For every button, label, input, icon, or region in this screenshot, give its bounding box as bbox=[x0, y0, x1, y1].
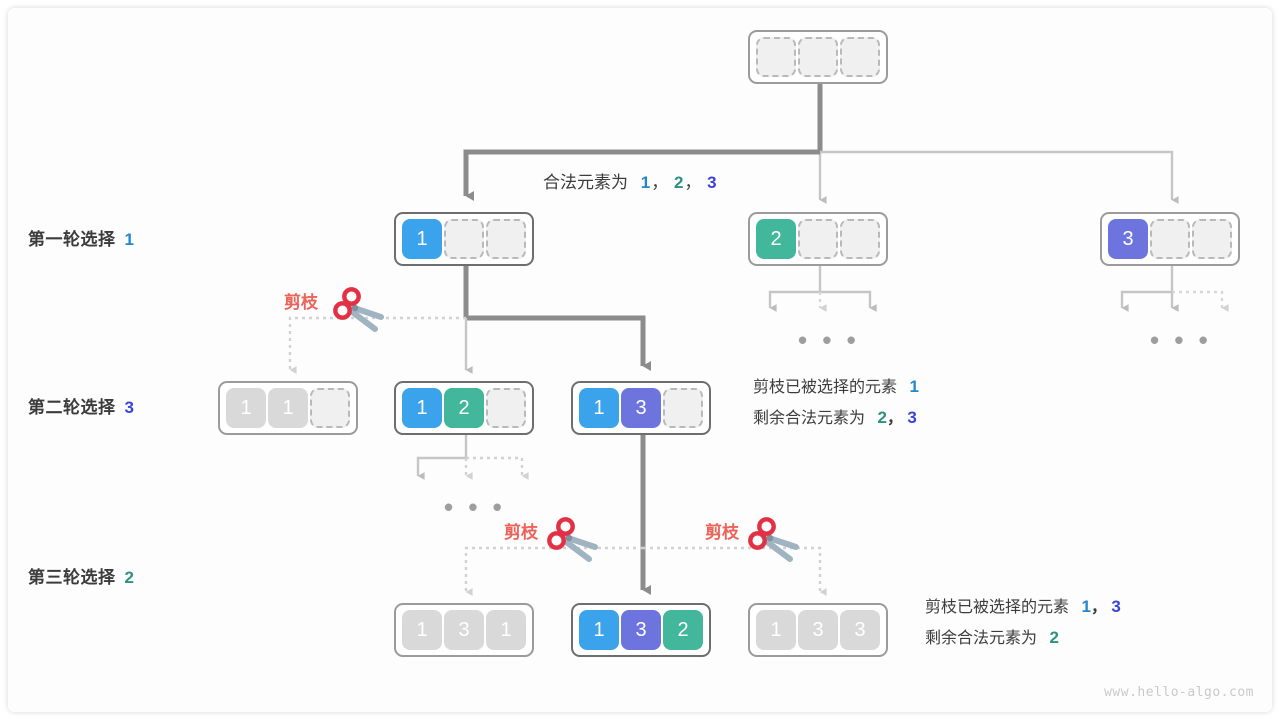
cell-1-3-2 bbox=[663, 388, 703, 428]
row-label-round-2-text: 第二轮选择 bbox=[28, 398, 116, 417]
cell-root-1 bbox=[798, 37, 838, 77]
cell-1-0: 1 bbox=[402, 219, 442, 259]
cell-1-1-1: 1 bbox=[268, 388, 308, 428]
legal-sep-1: ， bbox=[651, 173, 668, 192]
row-label-round-2-value: 3 bbox=[125, 398, 135, 417]
legal-element-value-2: 2 bbox=[674, 173, 683, 192]
legal-elements-note: 合法元素为 1， 2， 3 bbox=[543, 168, 718, 193]
cell-1-3-0: 1 bbox=[579, 388, 619, 428]
annotation-round-2-remaining-2: 3 bbox=[907, 408, 916, 427]
node-1-3-1: 1 3 1 bbox=[394, 603, 534, 657]
annotation-round-3-remaining-1: 2 bbox=[1049, 628, 1058, 647]
cell-3-1 bbox=[1150, 219, 1190, 259]
cell-1-1-2 bbox=[310, 388, 350, 428]
annotation-round-2: 剪枝已被选择的元素 1 剩余合法元素为 2， 3 bbox=[753, 372, 919, 434]
annotation-round-2-sep: ， bbox=[887, 410, 903, 427]
ellipsis-under-3: • • • bbox=[1150, 327, 1212, 353]
row-label-round-1-value: 1 bbox=[125, 230, 135, 249]
ellipsis-under-2: • • • bbox=[798, 327, 860, 353]
node-3: 3 bbox=[1100, 212, 1240, 266]
diagram-canvas: 第一轮选择1 第二轮选择3 第三轮选择2 1 2 3 1 1 1 2 bbox=[0, 0, 1280, 720]
prune-label-row-2: 剪枝 bbox=[284, 288, 318, 313]
cell-1-1 bbox=[444, 219, 484, 259]
node-1: 1 bbox=[394, 212, 534, 266]
cell-1-1-0: 1 bbox=[226, 388, 266, 428]
annotation-round-2-remaining-1: 2 bbox=[877, 408, 886, 427]
cell-1-3-1-1: 3 bbox=[444, 610, 484, 650]
annotation-round-3-line-1: 剪枝已被选择的元素 1， 3 bbox=[925, 592, 1121, 623]
cell-1-2-0: 1 bbox=[402, 388, 442, 428]
annotation-round-3-selected-2: 3 bbox=[1111, 597, 1120, 616]
node-1-3: 1 3 bbox=[571, 381, 711, 435]
annotation-round-3-selected-1: 1 bbox=[1081, 597, 1090, 616]
cell-root-2 bbox=[840, 37, 880, 77]
legal-element-value-3: 3 bbox=[707, 173, 716, 192]
row-label-round-3-value: 2 bbox=[125, 568, 135, 587]
cell-1-3-1-0: 1 bbox=[402, 610, 442, 650]
cell-1-2 bbox=[486, 219, 526, 259]
cell-1-3-3-1: 3 bbox=[798, 610, 838, 650]
row-label-round-3-text: 第三轮选择 bbox=[28, 568, 116, 587]
annotation-round-3-sep: ， bbox=[1091, 599, 1107, 616]
annotation-round-2-line-1-prefix: 剪枝已被选择的元素 bbox=[753, 379, 897, 396]
annotation-round-2-line-1: 剪枝已被选择的元素 1 bbox=[753, 372, 919, 403]
prune-label-row-3-left: 剪枝 bbox=[504, 518, 538, 543]
legal-sep-2: ， bbox=[684, 173, 701, 192]
cell-3-0: 3 bbox=[1108, 219, 1148, 259]
annotation-round-3-line-1-prefix: 剪枝已被选择的元素 bbox=[925, 599, 1069, 616]
node-1-3-2: 1 3 2 bbox=[571, 603, 711, 657]
cell-3-2 bbox=[1192, 219, 1232, 259]
scissors-icon-row-3-left bbox=[545, 516, 601, 564]
row-label-round-2: 第二轮选择3 bbox=[28, 393, 134, 418]
cell-1-3-1: 3 bbox=[621, 388, 661, 428]
cell-2-1 bbox=[798, 219, 838, 259]
watermark: www.hello-algo.com bbox=[1104, 685, 1254, 700]
legal-elements-prefix: 合法元素为 bbox=[543, 173, 628, 192]
annotation-round-3: 剪枝已被选择的元素 1， 3 剩余合法元素为 2 bbox=[925, 592, 1121, 654]
node-1-1: 1 1 bbox=[218, 381, 358, 435]
row-label-round-1-text: 第一轮选择 bbox=[28, 230, 116, 249]
annotation-round-3-line-2-prefix: 剩余合法元素为 bbox=[925, 630, 1037, 647]
cell-1-3-3-0: 1 bbox=[756, 610, 796, 650]
cell-1-3-3-2: 3 bbox=[840, 610, 880, 650]
cell-2-0: 2 bbox=[756, 219, 796, 259]
scissors-icon-row-3-right bbox=[746, 516, 802, 564]
cell-2-2 bbox=[840, 219, 880, 259]
prune-label-row-3-right: 剪枝 bbox=[705, 518, 739, 543]
cell-1-2-2 bbox=[486, 388, 526, 428]
node-root bbox=[748, 30, 888, 84]
cell-1-3-2-2: 2 bbox=[663, 610, 703, 650]
annotation-round-2-line-2: 剩余合法元素为 2， 3 bbox=[753, 403, 919, 434]
annotation-round-2-selected-1: 1 bbox=[909, 377, 918, 396]
row-label-round-1: 第一轮选择1 bbox=[28, 225, 134, 250]
annotation-round-2-line-2-prefix: 剩余合法元素为 bbox=[753, 410, 865, 427]
cell-root-0 bbox=[756, 37, 796, 77]
node-1-3-3: 1 3 3 bbox=[748, 603, 888, 657]
cell-1-3-2-1: 3 bbox=[621, 610, 661, 650]
ellipsis-under-1-2: • • • bbox=[444, 494, 506, 520]
node-2: 2 bbox=[748, 212, 888, 266]
cell-1-3-1-2: 1 bbox=[486, 610, 526, 650]
node-1-2: 1 2 bbox=[394, 381, 534, 435]
legal-element-value-1: 1 bbox=[641, 173, 650, 192]
scissors-icon-row-2 bbox=[331, 286, 387, 334]
cell-1-2-1: 2 bbox=[444, 388, 484, 428]
cell-1-3-2-0: 1 bbox=[579, 610, 619, 650]
row-label-round-3: 第三轮选择2 bbox=[28, 563, 134, 588]
annotation-round-3-line-2: 剩余合法元素为 2 bbox=[925, 623, 1121, 654]
